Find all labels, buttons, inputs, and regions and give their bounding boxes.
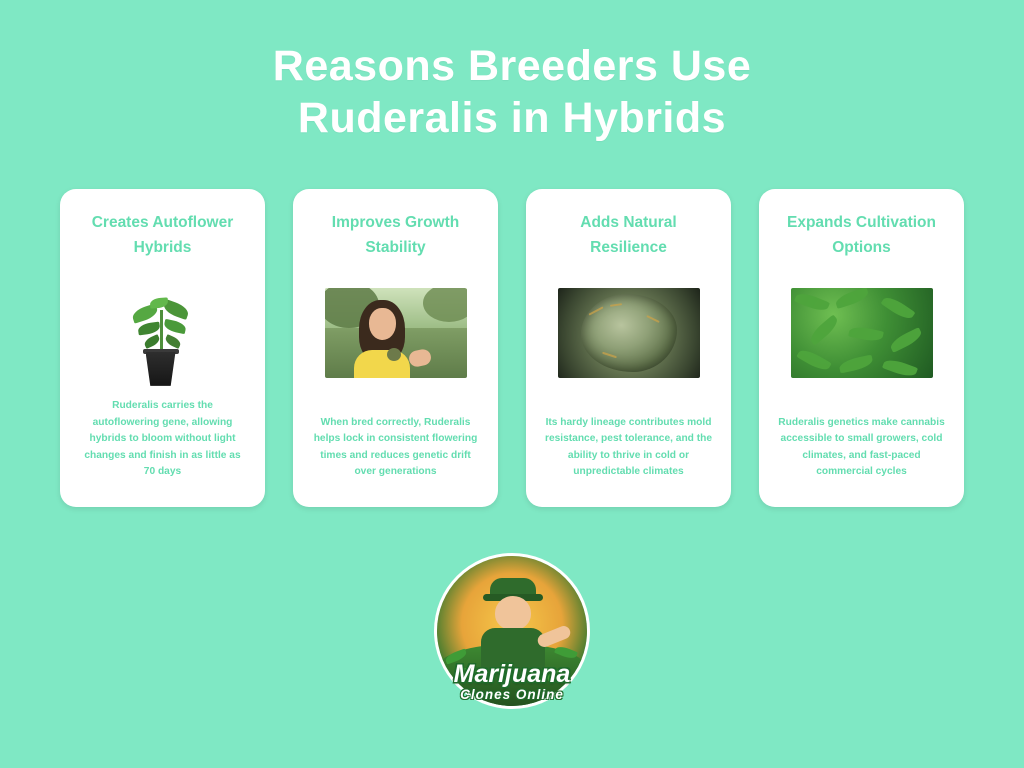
seedling-plant-illustration <box>108 280 218 386</box>
brand-name-line-1: Marijuana <box>407 660 617 689</box>
grower-woman-photo <box>325 288 467 378</box>
page-title-line-1: Reasons Breeders Use <box>0 40 1024 92</box>
leaf-icon <box>796 346 831 373</box>
bud-shape <box>581 294 677 372</box>
card-image <box>74 279 251 387</box>
arm-shape <box>407 348 432 368</box>
card-title: Expands Cultivation Options <box>773 211 950 261</box>
card-image <box>773 279 950 387</box>
plant-pot <box>146 352 176 386</box>
brand-logo[interactable]: Marijuana Clones Online <box>407 556 617 702</box>
page-title: Reasons Breeders Use Ruderalis in Hybrid… <box>0 0 1024 145</box>
reason-card: Improves Growth Stability When bred corr… <box>293 189 498 507</box>
card-title: Improves Growth Stability <box>307 211 484 261</box>
leaf-icon <box>142 334 160 349</box>
leaf-icon <box>833 288 869 309</box>
cannabis-bud-shape <box>387 348 401 361</box>
leaf-icon <box>807 314 841 345</box>
cannabis-bud-photo <box>558 288 700 378</box>
mascot-arm <box>536 624 572 649</box>
leaf-icon <box>793 290 829 314</box>
card-title: Creates Autoflower Hybrids <box>74 211 251 261</box>
card-description: Its hardy lineage contributes mold resis… <box>540 415 717 481</box>
page-title-line-2: Ruderalis in Hybrids <box>0 92 1024 144</box>
leaf-icon <box>163 334 181 349</box>
leaf-icon <box>881 356 917 377</box>
card-description: Ruderalis carries the autoflowering gene… <box>74 398 251 481</box>
card-image <box>307 279 484 387</box>
face-shape <box>369 308 396 340</box>
leaf-icon <box>888 327 924 353</box>
plant-stem <box>160 310 163 354</box>
reason-card: Expands Cultivation Options Ruderalis ge… <box>759 189 964 507</box>
card-image <box>540 279 717 387</box>
shirt-shape <box>354 350 410 378</box>
mascot-face <box>495 596 531 630</box>
brand-name-line-2: Clones Online <box>407 687 617 702</box>
card-description: When bred correctly, Ruderalis helps loc… <box>307 415 484 481</box>
leaf-icon <box>838 355 874 374</box>
card-title: Adds Natural Resilience <box>540 211 717 261</box>
card-description: Ruderalis genetics make cannabis accessi… <box>773 415 950 481</box>
reason-card: Creates Autoflower Hybrids Ruderalis car… <box>60 189 265 507</box>
reason-card-list: Creates Autoflower Hybrids Ruderalis car… <box>0 189 1024 507</box>
leaf-icon <box>163 319 187 334</box>
reason-card: Adds Natural Resilience Its hardy lineag… <box>526 189 731 507</box>
leaf-canopy-photo <box>791 288 933 378</box>
leaf-icon <box>880 293 915 322</box>
leaf-icon <box>848 325 884 344</box>
